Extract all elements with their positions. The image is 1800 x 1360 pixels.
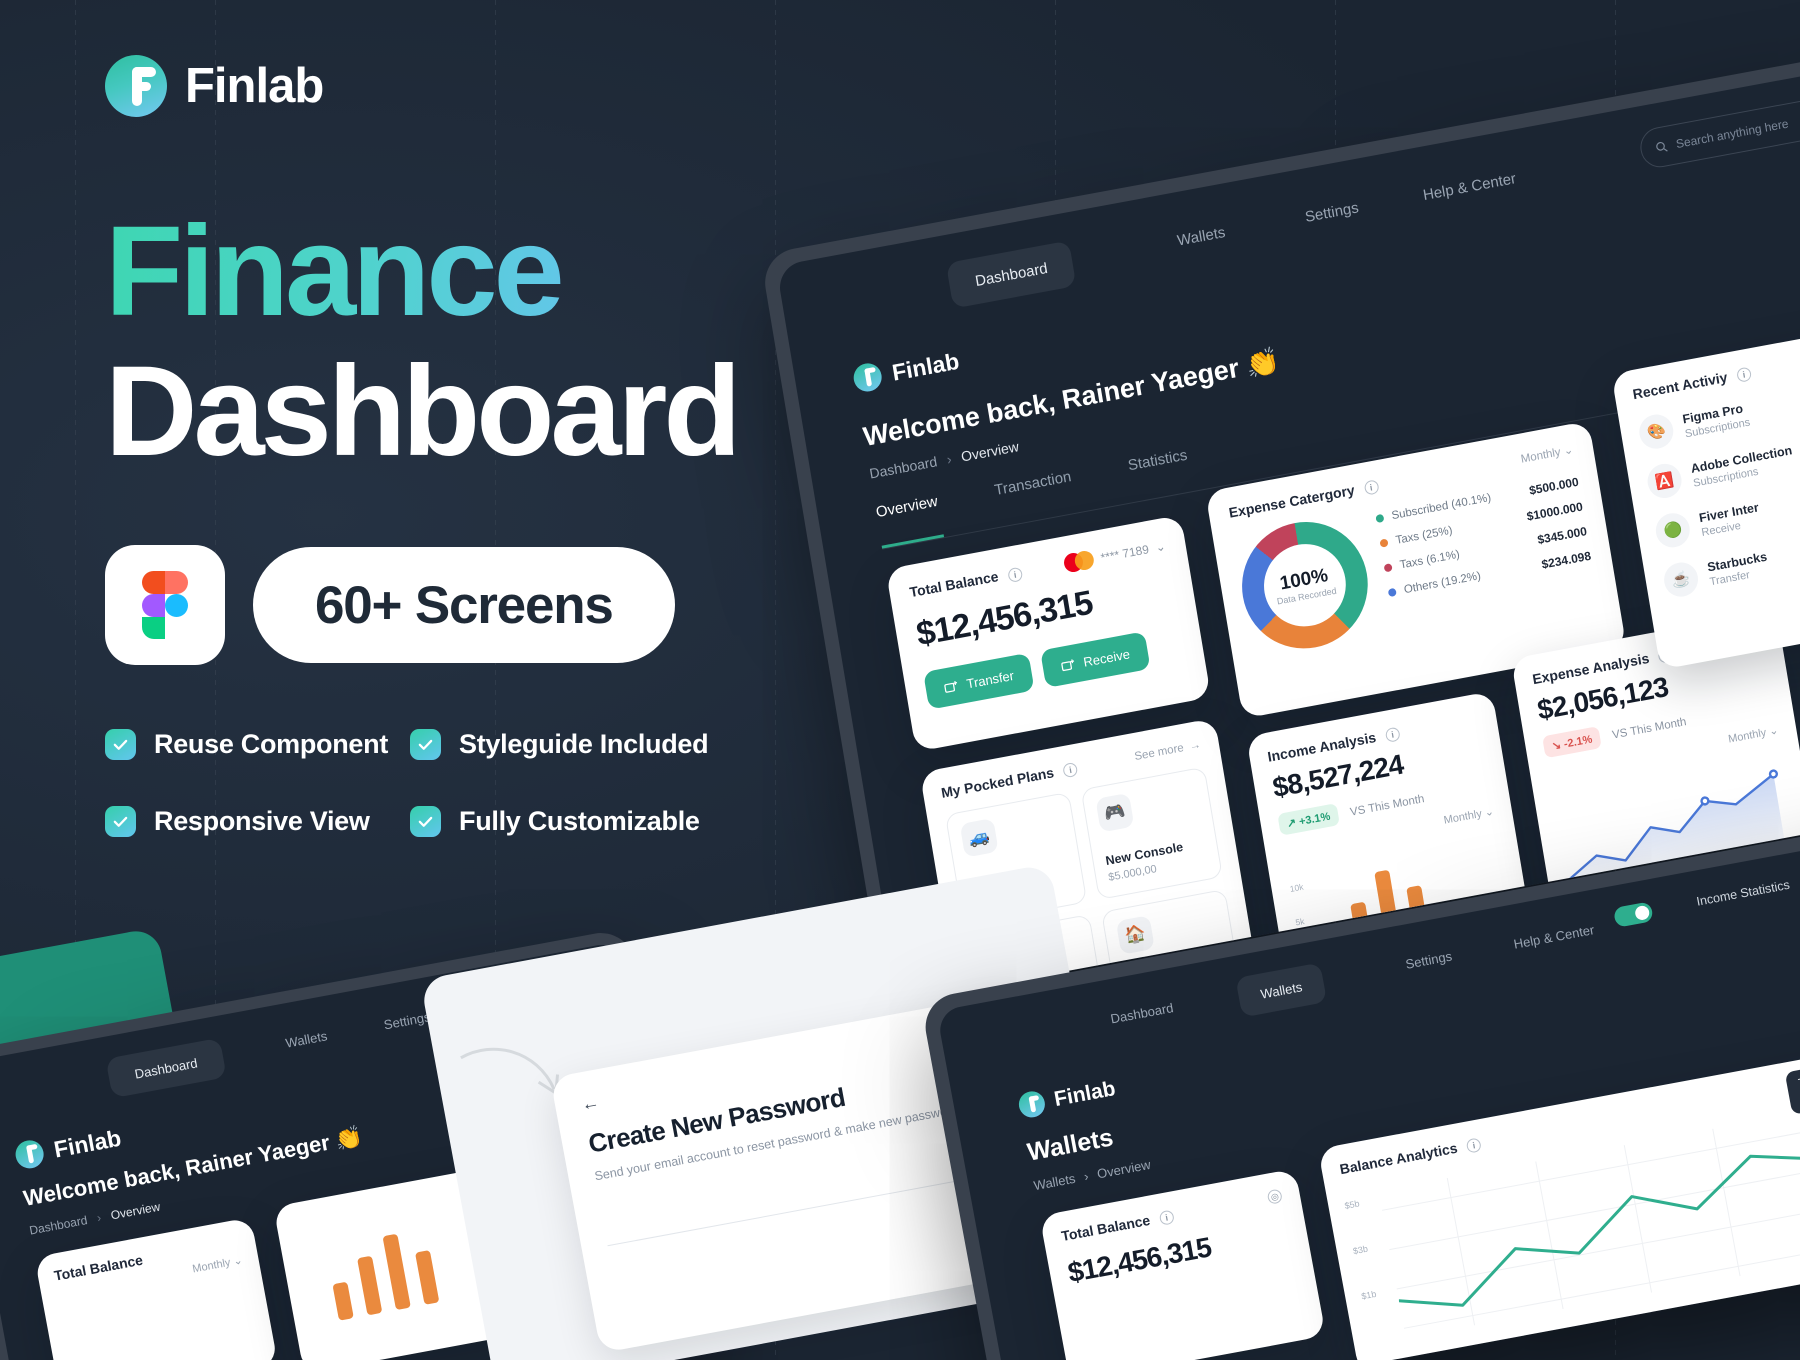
- feature-item-styleguide-included: Styleguide Included: [410, 729, 715, 760]
- dashboard-brand-name: Finlab: [52, 1124, 124, 1163]
- screens-count-badge: 60+ Screens: [253, 547, 675, 663]
- feature-label: Styleguide Included: [459, 729, 708, 760]
- nav-item-settings[interactable]: Settings: [1404, 948, 1453, 971]
- bar: [332, 1282, 353, 1321]
- total-balance-card: Total Balance i **** 7189 ⌄ $12,456,315: [886, 515, 1212, 752]
- expense-vs-label: VS This Month: [1611, 716, 1687, 742]
- feature-item-fully-customizable: Fully Customizable: [410, 806, 715, 837]
- search-placeholder: Search anything here: [1675, 116, 1789, 151]
- feature-item-responsive-view: Responsive View: [105, 806, 410, 837]
- info-icon[interactable]: i: [1159, 1210, 1175, 1226]
- figma-icon: 🎨: [1637, 412, 1676, 452]
- expense-donut-chart: 100% Data Recorded: [1233, 512, 1378, 659]
- total-balance-title: Total Balance i: [1060, 1208, 1175, 1245]
- dashboard-mockup: Dashboard Wallets Settings Help & Center…: [760, 14, 1800, 1004]
- nav-item-dashboard[interactable]: Dashboard: [946, 240, 1077, 308]
- logo: Finlab: [105, 55, 825, 117]
- page-title: Wallets: [1025, 1123, 1115, 1167]
- search-icon: [1654, 140, 1668, 154]
- period-select[interactable]: Monthly ⌄: [1520, 442, 1575, 465]
- receive-button[interactable]: Receive: [1040, 631, 1150, 688]
- nav-item-dashboard[interactable]: Dashboard: [1109, 1000, 1174, 1026]
- wallets-total-balance-card: Total Balance i ◎ $12,456,315: [1039, 1168, 1326, 1360]
- finlab-mark-icon: [13, 1138, 46, 1171]
- balance-analytics-card: Balance Analytics i Total Income $2138.4…: [1318, 1040, 1800, 1360]
- hero-section: Finlab Finance Dashboard 60+ Screens Reu…: [105, 55, 825, 837]
- info-icon[interactable]: i: [1363, 480, 1379, 496]
- check-icon: [410, 729, 441, 760]
- bar: [415, 1250, 439, 1305]
- receive-icon: [1060, 656, 1077, 674]
- feature-list: Reuse Component Styleguide Included Resp…: [105, 729, 825, 837]
- nav-item-help-center[interactable]: Help & Center: [1422, 170, 1517, 204]
- card-selector[interactable]: **** 7189 ⌄: [1063, 536, 1167, 573]
- expense-legend: Subscribed (40.1%) $500.000 Taxs (25%) $…: [1374, 471, 1597, 633]
- check-icon: [105, 729, 136, 760]
- nav-item-wallets[interactable]: Wallets: [284, 1028, 328, 1050]
- house-icon: 🏠: [1116, 915, 1155, 955]
- check-icon: [410, 806, 441, 837]
- chart-tooltip: Total Income $2138.456: [1784, 1058, 1800, 1115]
- total-balance-title: Total Balance i: [908, 564, 1023, 601]
- transfer-icon: [943, 678, 960, 696]
- breadcrumb-dashboard[interactable]: Dashboard: [868, 453, 938, 481]
- nav-item-help-center[interactable]: Help & Center: [1512, 922, 1595, 952]
- legend-swatch: [1384, 563, 1393, 572]
- feature-label: Responsive View: [154, 806, 370, 837]
- recent-activity-card: Recent Activiy i 🎨 Figma Pro Subscriptio…: [1611, 319, 1800, 670]
- info-icon[interactable]: i: [1063, 762, 1079, 778]
- info-icon[interactable]: i: [1466, 1138, 1482, 1154]
- income-statistics-label: Income Statistics: [1695, 878, 1790, 909]
- donut-center-label: 100% Data Recorded: [1233, 512, 1378, 659]
- expense-delta-badge: ↘ -2.1%: [1542, 726, 1602, 758]
- income-statistics-toggle[interactable]: [1613, 901, 1654, 928]
- nav-item-settings[interactable]: Settings: [383, 1009, 432, 1032]
- legend-swatch: [1388, 588, 1397, 597]
- check-icon: [105, 806, 136, 837]
- info-icon[interactable]: i: [1007, 566, 1023, 582]
- cta-row: 60+ Screens: [105, 545, 825, 665]
- info-icon[interactable]: i: [1736, 367, 1752, 383]
- transfer-button[interactable]: Transfer: [923, 653, 1034, 710]
- tab-overview[interactable]: Overview: [875, 493, 944, 549]
- income-vs-label: VS This Month: [1349, 793, 1425, 819]
- breadcrumb-overview: Overview: [960, 438, 1020, 464]
- wallets-brand-name: Finlab: [1052, 1077, 1117, 1112]
- figma-badge[interactable]: [105, 545, 225, 665]
- chevron-down-icon: ⌄: [1154, 539, 1166, 555]
- top-navigation: Dashboard Wallets Settings Help & Center…: [776, 31, 1800, 383]
- finlab-mark-icon: [1017, 1089, 1047, 1119]
- nav-item-wallets[interactable]: Wallets: [1235, 962, 1327, 1017]
- finlab-mark-icon: [852, 361, 884, 394]
- income-delta-badge: ↗ +3.1%: [1277, 803, 1339, 836]
- fiverr-icon: 🟢: [1653, 511, 1692, 551]
- car-icon: 🚙: [960, 818, 999, 858]
- console-icon: 🎮: [1095, 793, 1134, 833]
- legend-swatch: [1379, 539, 1388, 548]
- tab-transaction[interactable]: Transaction: [993, 468, 1077, 527]
- card-number: **** 7189: [1100, 542, 1150, 565]
- device-screen: Dashboard Wallets Settings Help & Center…: [776, 31, 1800, 1002]
- chevron-right-icon: ›: [945, 451, 952, 468]
- total-balance-card: Total Balance Monthly ⌄: [34, 1217, 278, 1360]
- adobe-icon: 🅰️: [1645, 461, 1684, 501]
- balance-line-chart: [1378, 1096, 1800, 1338]
- tab-statistics[interactable]: Statistics: [1127, 447, 1193, 502]
- dashboard-logo: Finlab: [13, 1124, 123, 1171]
- wallets-logo: Finlab: [1017, 1076, 1118, 1119]
- bar: [382, 1233, 410, 1310]
- pocket-plans-see-more[interactable]: See more →: [1134, 739, 1202, 763]
- plan-card[interactable]: 🎮 New Console $5.000,00: [1081, 767, 1223, 900]
- nav-item-settings[interactable]: Settings: [1304, 199, 1360, 226]
- chevron-right-icon: ›: [96, 1210, 102, 1224]
- brand-name: Finlab: [185, 58, 323, 114]
- bar: [357, 1256, 382, 1315]
- hero-title-line1: Finance: [105, 207, 825, 338]
- figma-icon: [142, 571, 188, 639]
- screens-count-label: 60+ Screens: [315, 575, 613, 636]
- feature-label: Reuse Component: [154, 729, 388, 760]
- hero-title-line2: Dashboard: [105, 344, 825, 480]
- search-input[interactable]: Search anything here: [1637, 91, 1800, 171]
- nav-item-dashboard[interactable]: Dashboard: [105, 1038, 226, 1098]
- info-icon[interactable]: i: [1385, 727, 1401, 743]
- mastercard-icon: [1063, 549, 1096, 573]
- target-icon[interactable]: ◎: [1267, 1189, 1283, 1205]
- finlab-mark-icon: [105, 55, 167, 117]
- starbucks-icon: ☕: [1662, 560, 1701, 600]
- chevron-right-icon: ›: [1083, 1168, 1090, 1184]
- feature-label: Fully Customizable: [459, 806, 700, 837]
- nav-item-wallets[interactable]: Wallets: [1176, 224, 1227, 250]
- legend-swatch: [1375, 514, 1384, 523]
- balance-y-axis: $5b $3b $1b: [1344, 1198, 1377, 1301]
- feature-item-reuse-component: Reuse Component: [105, 729, 410, 760]
- arrow-right-icon: →: [1189, 739, 1202, 753]
